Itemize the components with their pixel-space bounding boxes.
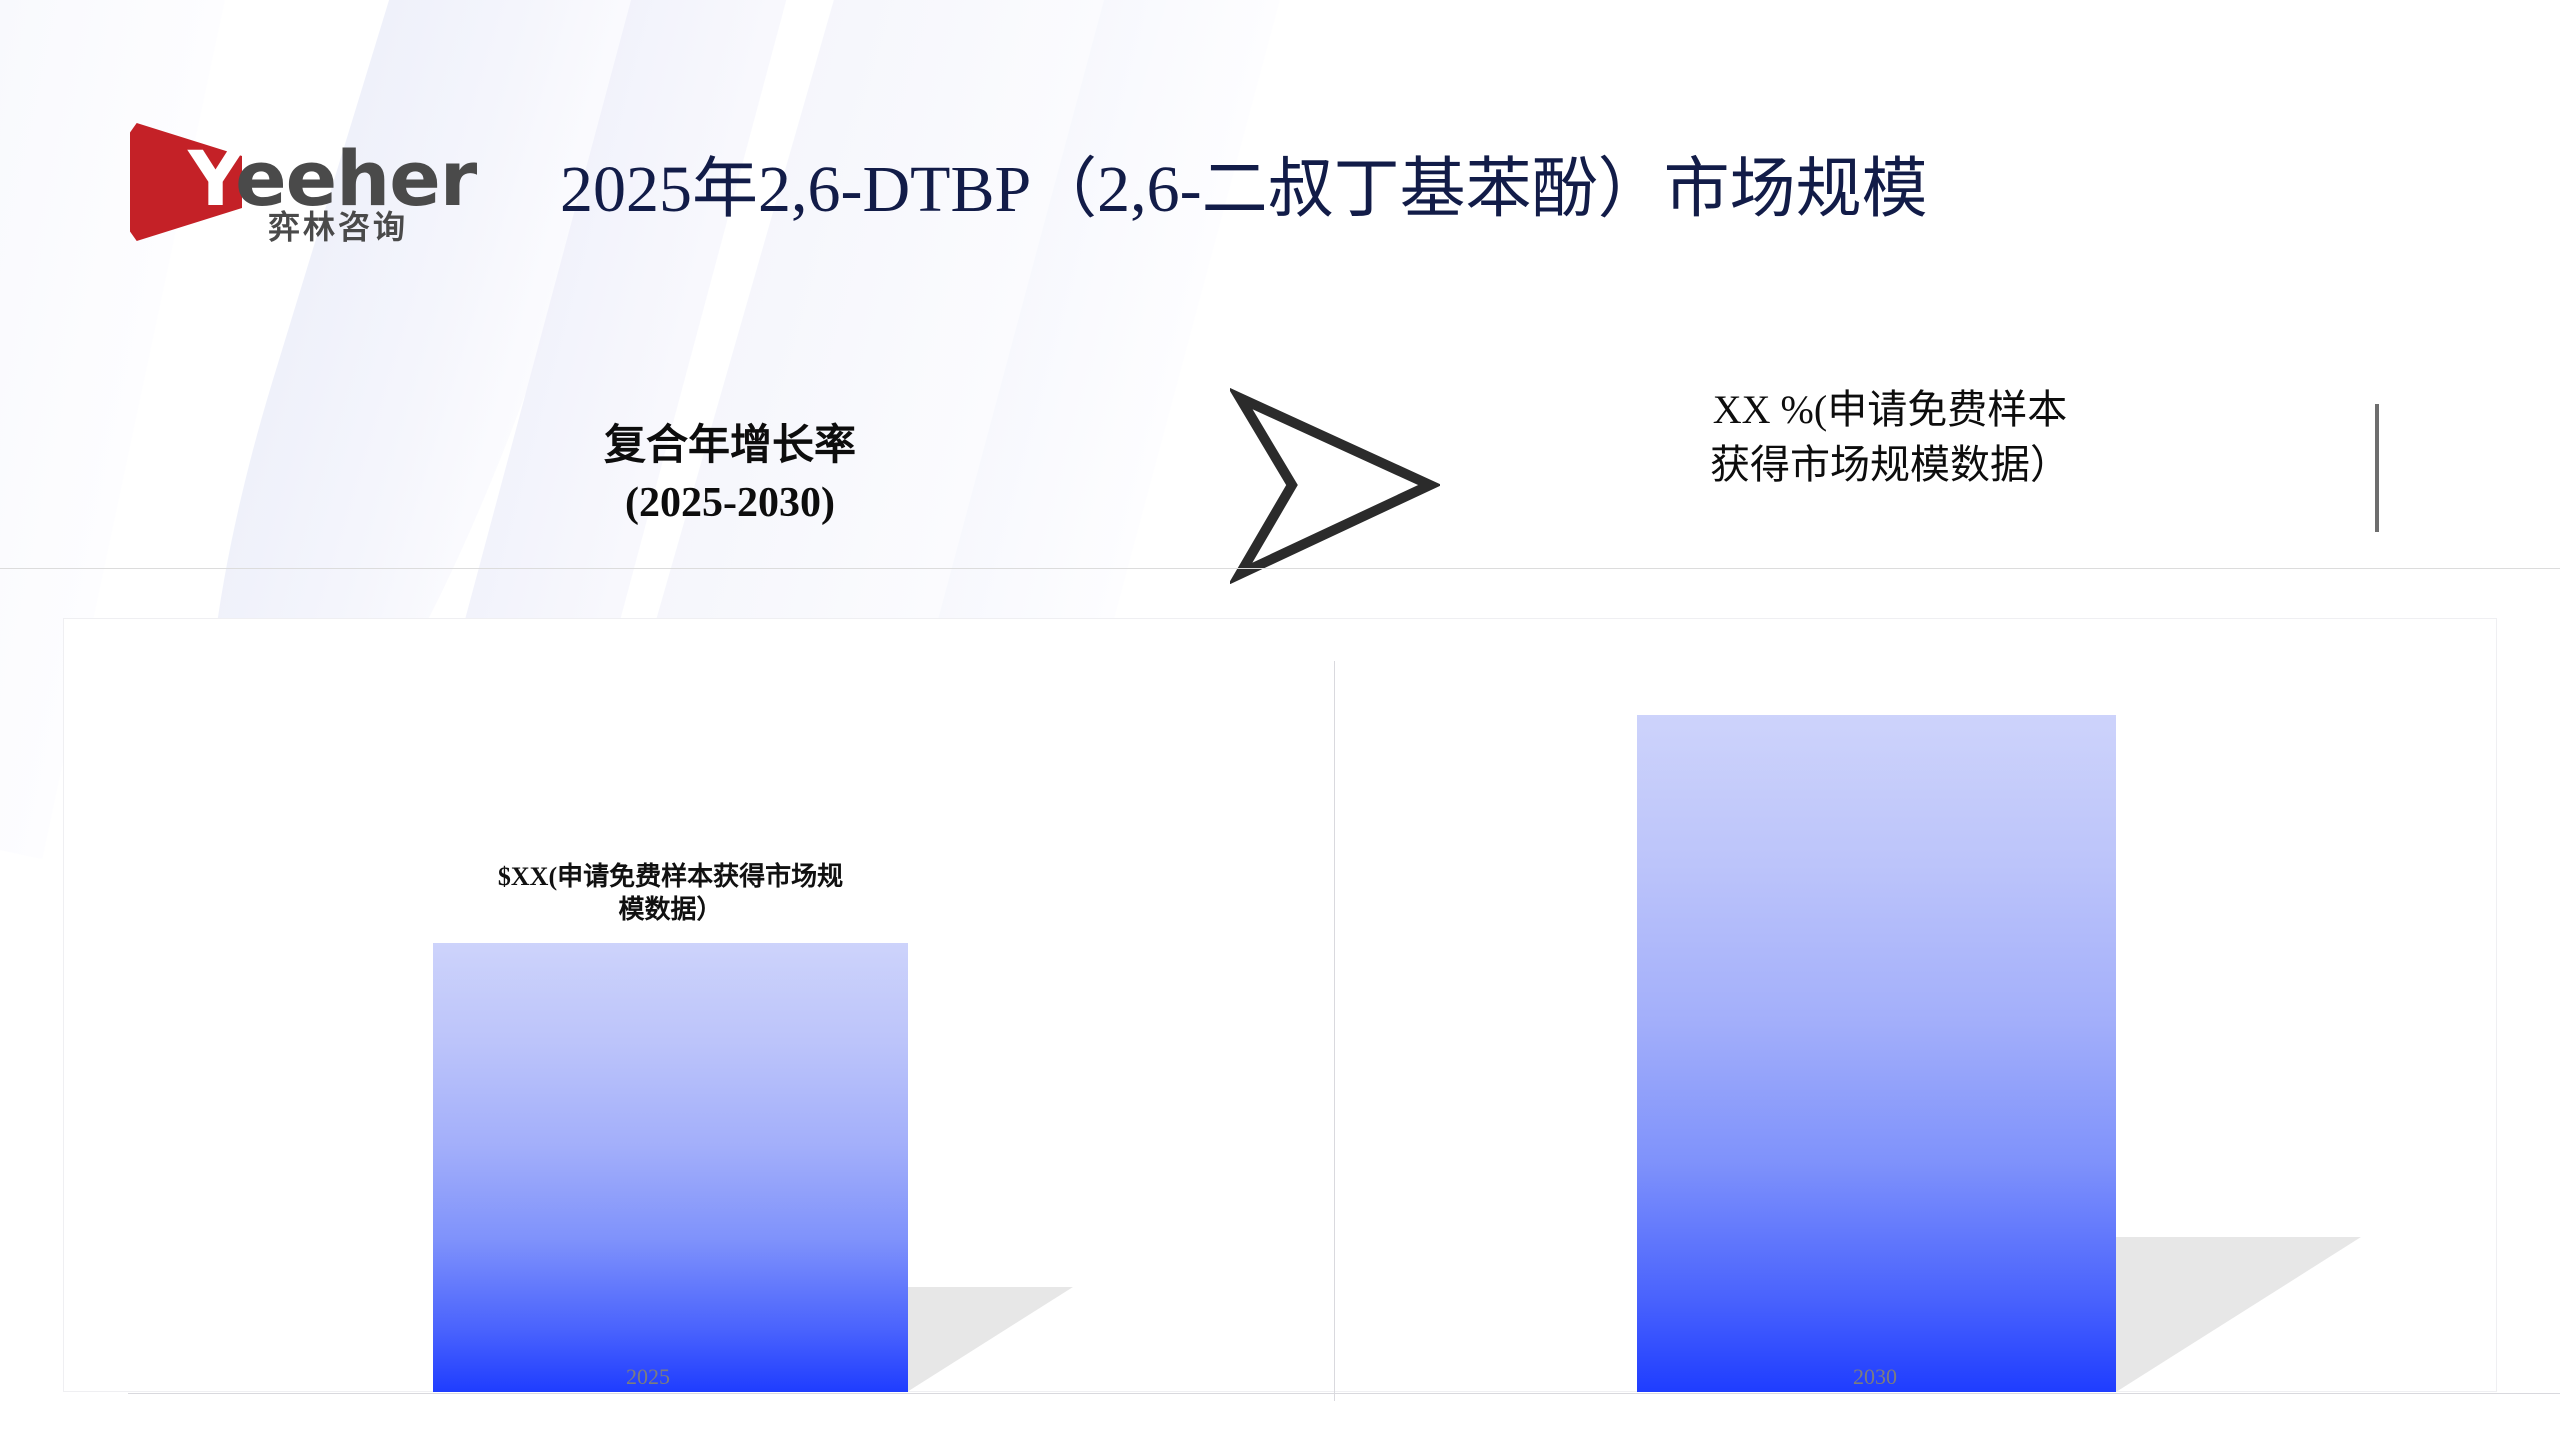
cagr-value: XX %(申请免费样本 获得市场规模数据） bbox=[1630, 382, 2150, 492]
bar-value-label-2025-line1: $XX(申请免费样本获得市场规 bbox=[413, 861, 928, 894]
logo-chinese-name: 弈林咨询 bbox=[268, 211, 408, 243]
bar-shadow-2025 bbox=[907, 1287, 1073, 1392]
logo-wordmark: Yeeher bbox=[188, 141, 476, 217]
cagr-label-line1: 复合年增长率 bbox=[480, 418, 980, 475]
bar-value-label-2025-line2: 模数据） bbox=[413, 894, 928, 927]
bar-value-label-2025: $XX(申请免费样本获得市场规 模数据） bbox=[413, 861, 928, 926]
header: Yeeher 弈林咨询 2025年2,6-DTBP（2,6-二叔丁基苯酚）市场规… bbox=[0, 0, 2560, 568]
axis-tick-2025: 2025 bbox=[573, 1364, 723, 1390]
cagr-label: 复合年增长率 (2025-2030) bbox=[480, 418, 980, 531]
chart-column-divider bbox=[1334, 661, 1335, 1401]
header-right-rule bbox=[2375, 404, 2379, 532]
bar-2030[interactable] bbox=[1637, 715, 2116, 1392]
infographic-root: Yeeher 弈林咨询 2025年2,6-DTBP（2,6-二叔丁基苯酚）市场规… bbox=[0, 0, 2560, 1440]
bar-2025[interactable] bbox=[433, 943, 908, 1392]
bar-chart: $XX(申请免费样本获得市场规 模数据） 2025 2030 bbox=[0, 568, 2560, 1440]
cagr-value-line2: 获得市场规模数据） bbox=[1630, 437, 2150, 492]
brand-logo: Yeeher 弈林咨询 bbox=[130, 123, 470, 243]
arrow-right-outline-icon bbox=[1230, 388, 1440, 584]
cagr-label-line2: (2025-2030) bbox=[480, 475, 980, 532]
logo-wordmark-initial: Y bbox=[188, 134, 235, 223]
page-title: 2025年2,6-DTBP（2,6-二叔丁基苯酚）市场规模 bbox=[560, 152, 2480, 228]
cagr-value-line1: XX %(申请免费样本 bbox=[1630, 382, 2150, 437]
chart-baseline bbox=[128, 1393, 2560, 1394]
bar-shadow-2030 bbox=[2116, 1237, 2361, 1392]
axis-tick-2030: 2030 bbox=[1800, 1364, 1950, 1390]
chart-panel: $XX(申请免费样本获得市场规 模数据） bbox=[63, 618, 2497, 1392]
